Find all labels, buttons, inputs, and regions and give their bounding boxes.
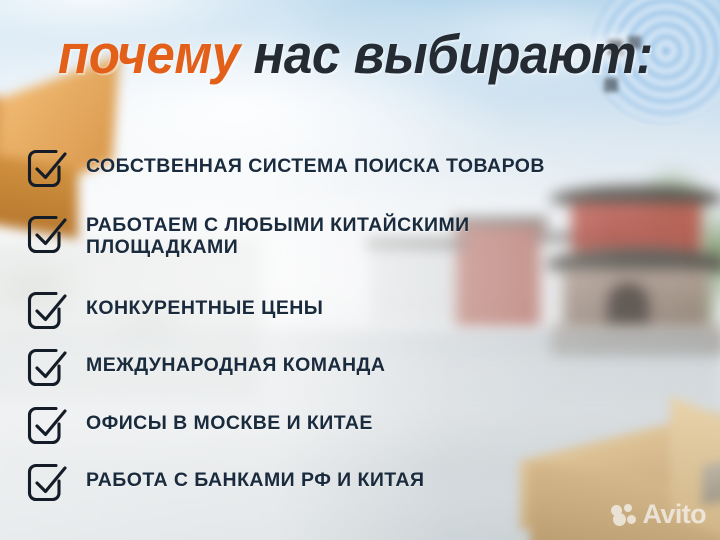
checkbox-checked-icon xyxy=(26,290,68,334)
list-item: СОБСТВЕННАЯ СИСТЕМА ПОИСКА ТОВАРОВ xyxy=(26,146,545,192)
list-item: МЕЖДУНАРОДНАЯ КОМАНДА xyxy=(26,345,385,391)
checkbox-checked-icon xyxy=(26,347,68,391)
checkbox-checked-icon xyxy=(26,462,68,506)
list-item: РАБОТА С БАНКАМИ РФ И КИТАЯ xyxy=(26,460,424,506)
list-item-label: КОНКУРЕНТНЫЕ ЦЕНЫ xyxy=(86,288,323,320)
list-item: РАБОТАЕМ С ЛЮБЫМИ КИТАЙСКИМИ ПЛОЩАДКАМИ xyxy=(26,212,470,259)
list-item: ОФИСЫ В МОСКВЕ И КИТАЕ xyxy=(26,403,373,449)
page-title: почему нас выбирают: xyxy=(58,27,653,82)
headline-main-text: нас выбирают: xyxy=(253,23,652,85)
checkbox-checked-icon xyxy=(26,214,68,258)
list-item-label: ОФИСЫ В МОСКВЕ И КИТАЕ xyxy=(86,403,373,435)
list-item-label: РАБОТА С БАНКАМИ РФ И КИТАЯ xyxy=(86,460,424,492)
poster-content: почему нас выбирают: СОБСТВЕННАЯ СИСТЕМА… xyxy=(0,0,720,540)
list-item: КОНКУРЕНТНЫЕ ЦЕНЫ xyxy=(26,288,323,334)
list-item-label: РАБОТАЕМ С ЛЮБЫМИ КИТАЙСКИМИ ПЛОЩАДКАМИ xyxy=(86,212,470,259)
promo-poster: почему нас выбирают: СОБСТВЕННАЯ СИСТЕМА… xyxy=(0,0,720,540)
headline-accent-word: почему xyxy=(58,23,240,85)
checkbox-checked-icon xyxy=(26,148,68,192)
checkbox-checked-icon xyxy=(26,405,68,449)
avito-watermark: Avito xyxy=(611,501,707,528)
avito-wordmark: Avito xyxy=(643,501,707,528)
avito-dots-icon xyxy=(611,504,637,526)
list-item-label: СОБСТВЕННАЯ СИСТЕМА ПОИСКА ТОВАРОВ xyxy=(86,146,545,178)
list-item-label: МЕЖДУНАРОДНАЯ КОМАНДА xyxy=(86,345,385,377)
